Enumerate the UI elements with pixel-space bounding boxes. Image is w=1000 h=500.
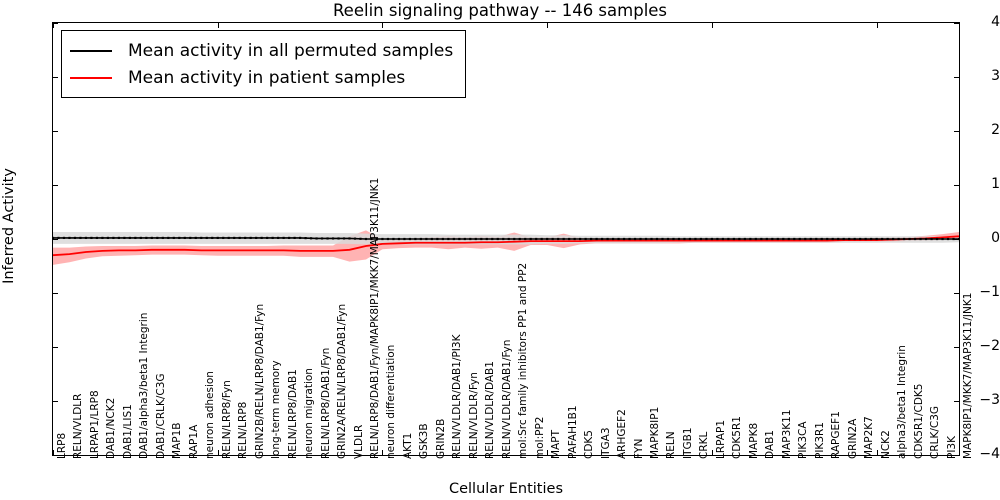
x-axis-category-label: GSK3B [419,423,430,459]
legend-swatch-patient [70,77,112,79]
legend-swatch-permuted [70,50,112,52]
legend-label-patient: Mean activity in patient samples [128,68,405,88]
chart-legend: Mean activity in all permuted samples Me… [61,30,466,98]
x-axis-category-label: RELN/LRP8/Fyn [222,380,233,459]
x-axis-category-label: DAB1 [765,430,776,459]
x-axis-category-label: long-term memory [271,360,282,459]
legend-item-permuted: Mean activity in all permuted samples [70,37,453,64]
x-axis-category-label: RELN/VLDLR/DAB1/PI3K [452,335,463,459]
x-axis-category-label: RELN/LRP8/DAB1/Fyn/MAPK8IP1/MKK7/MAP3K11… [370,178,381,459]
x-axis-category-label: RELN [666,431,677,459]
x-axis-category-label: MAP3K11 [782,409,793,459]
x-axis-category-label: MAPK8IP1/MKK7/MAP3K11/JNK1 [963,293,974,459]
x-axis-category-label: CRLK/C3G [930,406,941,459]
x-axis-category-label: CDK5R1 [732,416,743,459]
x-axis-category-label: RELN/LRP8/DAB1/Fyn [321,348,332,459]
x-axis-category-label: NCK2 [881,430,892,459]
x-axis-category-label: RELN/VLDLR/DAB1 [485,361,496,459]
x-axis-category-label: DAB1/LIS1 [123,404,134,459]
x-axis-category-label: alpha3/beta1 Integrin [897,345,908,459]
legend-label-permuted: Mean activity in all permuted samples [128,41,453,61]
x-axis-category-label: PAFAH1B1 [568,405,579,459]
x-axis-category-label: LRPAP1/LRP8 [90,390,101,459]
x-axis-category-label: LRP8 [57,433,68,459]
legend-item-patient: Mean activity in patient samples [70,64,453,91]
x-axis-category-label: RELN/LRP8 [238,402,249,459]
x-axis-category-label: ITGA3 [601,427,612,459]
x-axis-category-label: MAP1B [172,423,183,459]
x-axis-category-label: mol:PP2 [535,417,546,459]
x-axis-category-label: CDK5R1/CDK5 [914,384,925,459]
x-axis-category-label: FYN [634,439,645,459]
x-axis-category-label: GRIN2B/RELN/LRP8/DAB1/Fyn [255,304,266,459]
x-axis-category-label: DAB1/alpha3/beta1 Integrin [139,313,150,459]
x-axis-category-label: VLDLR [354,425,365,459]
x-axis-category-label: GRIN2B [436,419,447,459]
x-axis-category-label: DAB1/NCK2 [106,398,117,459]
x-axis-category-label: MAPK8IP1 [650,407,661,459]
x-axis-category-label: ITGB1 [683,427,694,459]
x-axis-category-label: mol:Src family inhibitors PP1 and PP2 [518,263,529,459]
x-axis-category-label: PI3K [947,436,958,459]
x-axis-category-label: neuron adhesion [205,371,216,459]
x-axis-category-label: ARHGEF2 [617,409,628,459]
x-axis-category-label: neuron differentiation [386,345,397,459]
x-axis-category-label: RELN/VLDLR/Fyn [469,372,480,459]
x-axis-category-label: GRIN2A/RELN/LRP8/DAB1/Fyn [337,304,348,459]
x-axis-category-label: RAP1A [189,425,200,459]
x-axis-category-label: DAB1/CRLK/C3G [156,373,167,459]
x-axis-category-label: LRPAP1 [716,420,727,459]
x-axis-title: Cellular Entities [52,481,960,497]
x-axis-category-label: RELN/LRP8/DAB1 [288,369,299,459]
x-axis-category-label: AKT1 [403,433,414,459]
chart-figure: Reelin signaling pathway -- 146 samples … [0,0,1000,500]
x-axis-category-label: PIK3CA [798,421,809,459]
x-axis-category-label: GRIN2A [848,419,859,459]
x-axis-category-label: PIK3R1 [815,422,826,459]
x-axis-category-label: CDK5 [584,430,595,459]
x-axis-category-label: CRKL [699,432,710,459]
x-axis-category-label: neuron migration [304,368,315,459]
x-axis-category-label: RELN/VLDLR [73,394,84,459]
x-axis-category-label: MAPT [551,430,562,459]
x-axis-category-label: RELN/VLDLR/DAB1/Fyn [502,340,513,459]
x-axis-category-label: MAPK8 [749,423,760,459]
x-axis-category-label: MAP2K7 [864,416,875,459]
x-axis-category-label: RAPGEF1 [831,411,842,459]
